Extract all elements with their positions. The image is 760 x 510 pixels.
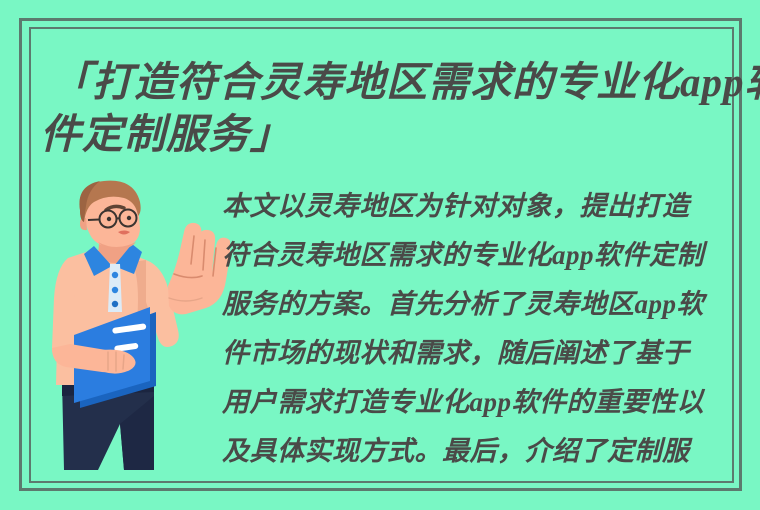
- shirt-button-3: [112, 301, 118, 307]
- shirt-button-1: [112, 272, 118, 278]
- poster-title: 「打造符合灵寿地区需求的专业化app软 件定制服务」: [50, 56, 740, 160]
- poster-canvas: 「打造符合灵寿地区需求的专业化app软 件定制服务」: [0, 0, 760, 510]
- eye-right: [127, 216, 131, 220]
- shirt-button-2: [112, 287, 118, 293]
- title-line-1: 「打造符合灵寿地区需求的专业化app软: [50, 56, 740, 108]
- poster-body-text: 本文以灵寿地区为针对对象，提出打造 符合灵寿地区需求的专业化app软件定制 服务…: [222, 182, 752, 482]
- glasses-temple-arm: [88, 220, 100, 221]
- body-line-5: 用户需求打造专业化app软件的重要性以: [222, 378, 752, 427]
- title-line-2: 件定制服务」: [40, 108, 740, 160]
- body-line-2: 符合灵寿地区需求的专业化app软件定制: [222, 231, 752, 280]
- illustration-waving-man-with-book: [50, 180, 230, 482]
- body-line-4: 件市场的现状和需求，随后阐述了基于: [222, 329, 752, 378]
- body-line-3: 服务的方案。首先分析了灵寿地区app软: [222, 280, 752, 329]
- body-line-6: 及具体实现方式。最后，介绍了定制服: [222, 427, 752, 476]
- body-line-1: 本文以灵寿地区为针对对象，提出打造: [222, 182, 752, 231]
- eye-left: [107, 217, 111, 221]
